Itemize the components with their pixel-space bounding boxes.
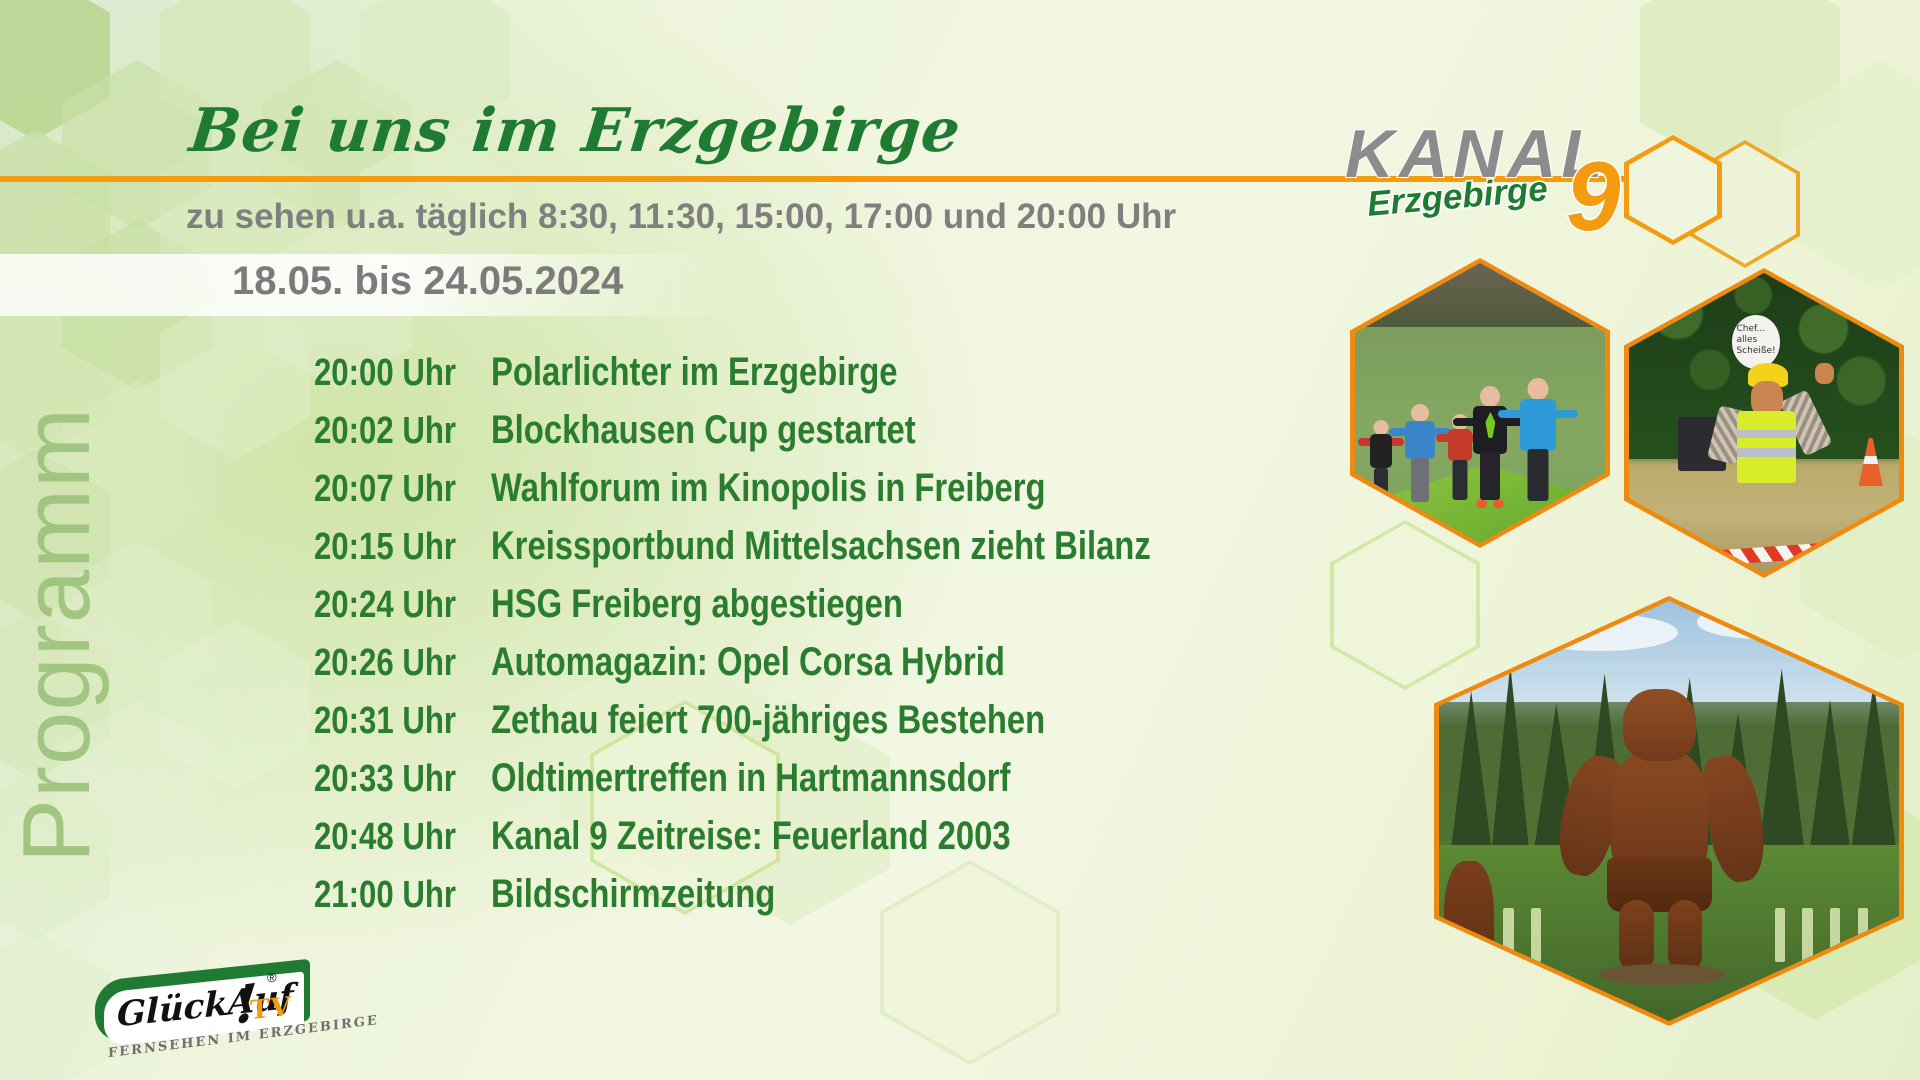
hexagon-outline-icon: [1624, 135, 1722, 245]
kanal9-logo: KANAL Erzgebirge 9: [1335, 115, 1655, 245]
treeline: [1355, 263, 1605, 327]
program-time: 20:48 Uhr: [284, 816, 456, 859]
list-item: 20:48 Uhr Kanal 9 Zeitreise: Feuerland 2…: [246, 814, 1296, 872]
registered-trademark-icon: ®: [267, 970, 277, 985]
child-figure: [1405, 400, 1435, 504]
speech-bubble-text: Chef... alles Scheiße!: [1736, 324, 1780, 358]
program-time: 20:26 Uhr: [284, 642, 456, 685]
list-item: 20:24 Uhr HSG Freiberg abgestiegen: [246, 582, 1296, 640]
photo-scene: [1439, 601, 1899, 1021]
program-time: 20:15 Uhr: [284, 526, 456, 569]
program-title: Zethau feiert 700-jähriges Bestehen: [491, 698, 1045, 743]
program-time: 20:31 Uhr: [284, 700, 456, 743]
wooden-troll-sculpture-photo: [1434, 596, 1904, 1026]
raised-hand: [1815, 363, 1834, 384]
photo-inner: [1355, 263, 1605, 543]
photo-scene: Chef... alles Scheiße!: [1629, 273, 1899, 573]
program-time: 20:07 Uhr: [284, 468, 456, 511]
logo-tv-label: TV: [250, 992, 292, 1026]
program-title: HSG Freiberg abgestiegen: [491, 582, 903, 627]
list-item: 20:33 Uhr Oldtimertreffen in Hartmannsdo…: [246, 756, 1296, 814]
program-list: 20:00 Uhr Polarlichter im Erzgebirge 20:…: [246, 350, 1296, 930]
broadcast-program-slide: Bei uns im Erzgebirge zu sehen u.a. tägl…: [0, 0, 1920, 1080]
kanal-number: 9: [1566, 147, 1621, 245]
barrier-tape: [1634, 542, 1840, 571]
child-figure: [1520, 378, 1556, 504]
construction-figure-photo: Chef... alles Scheiße!: [1624, 268, 1904, 578]
list-item: 20:26 Uhr Automagazin: Opel Corsa Hybrid: [246, 640, 1296, 698]
glueckauf-tv-logo: GlückAuf ! ® TV FERNSEHEN IM ERZGEBIRGE: [95, 968, 310, 1068]
speech-bubble: Chef... alles Scheiße!: [1732, 315, 1781, 369]
date-range-label: 18.05. bis 24.05.2024: [232, 259, 623, 304]
page-title: Bei uns im Erzgebirge: [186, 96, 964, 166]
list-item: 20:15 Uhr Kreissportbund Mittelsachsen z…: [246, 524, 1296, 582]
program-time: 20:00 Uhr: [284, 352, 456, 395]
photo-scene: [1355, 263, 1605, 543]
program-title: Oldtimertreffen in Hartmannsdorf: [491, 756, 1010, 801]
program-title: Kanal 9 Zeitreise: Feuerland 2003: [491, 814, 1011, 859]
safety-vest: [1737, 411, 1796, 483]
program-title: Wahlforum im Kinopolis in Freiberg: [491, 466, 1046, 511]
list-item: 20:07 Uhr Wahlforum im Kinopolis in Frei…: [246, 466, 1296, 524]
list-item: 20:31 Uhr Zethau feiert 700-jähriges Bes…: [246, 698, 1296, 756]
child-figure: [1473, 384, 1507, 504]
air-times-label: zu sehen u.a. täglich 8:30, 11:30, 15:00…: [186, 197, 1176, 237]
photo-inner: Chef... alles Scheiße!: [1629, 273, 1899, 573]
list-item: 21:00 Uhr Bildschirmzeitung: [246, 872, 1296, 930]
list-item: 20:02 Uhr Blockhausen Cup gestartet: [246, 408, 1296, 466]
kids-sport-photo: [1350, 258, 1610, 548]
list-item: 20:00 Uhr Polarlichter im Erzgebirge: [246, 350, 1296, 408]
program-title: Blockhausen Cup gestartet: [491, 408, 916, 453]
program-time: 20:33 Uhr: [284, 758, 456, 801]
photo-inner: [1439, 601, 1899, 1021]
program-time: 20:02 Uhr: [284, 410, 456, 453]
program-title: Bildschirmzeitung: [491, 872, 775, 917]
troll-sculpture: [1559, 677, 1761, 979]
program-title: Polarlichter im Erzgebirge: [491, 350, 897, 395]
program-title: Automagazin: Opel Corsa Hybrid: [491, 640, 1005, 685]
program-time: 21:00 Uhr: [284, 874, 456, 917]
program-title: Kreissportbund Mittelsachsen zieht Bilan…: [491, 524, 1151, 569]
program-time: 20:24 Uhr: [284, 584, 456, 627]
programm-vertical-label: Programm: [2, 407, 112, 863]
